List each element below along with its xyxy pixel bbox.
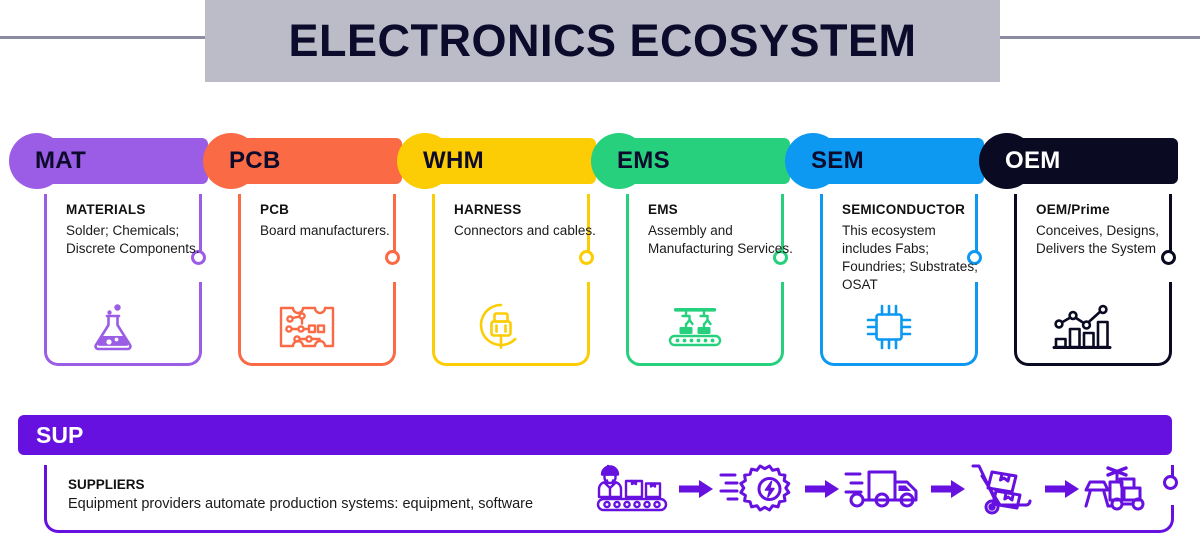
column-oem[interactable]: OEM OEM/Prime Conceives, Designs, Delive… [988,138,1178,373]
hand-truck-icon [970,462,1040,516]
flask-icon [81,299,145,355]
card-description-pcb: Board manufacturers. [260,222,406,240]
card-heading-sem: SEMICONDUCTOR [842,202,988,217]
arrow-right-icon [805,478,839,500]
card-body-sem: SEMICONDUCTOR This ecosystem includes Fa… [842,202,988,294]
page-title: ELECTRONICS ECOSYSTEM [288,15,916,67]
badge-label-sup: SUP [36,422,83,449]
card-body-whm: HARNESS Connectors and cables. [454,202,600,240]
circuit-board-icon [275,299,339,355]
card-description-ems: Assembly and Manufacturing Services. [648,222,794,258]
badge-sup[interactable]: SUP [18,415,1172,455]
badge-sem[interactable]: SEM [794,138,984,184]
badge-label-oem: OEM [1005,147,1061,175]
arrow-right-icon [679,478,713,500]
badge-ems[interactable]: EMS [600,138,790,184]
connector-knob-whm [579,250,594,265]
forklift-icon [1084,462,1150,516]
delivery-truck-icon [844,462,926,516]
card-body-oem: OEM/Prime Conceives, Designs, Delivers t… [1036,202,1182,258]
ecosystem-columns: MAT MATERIALS Solder; Chemicals; Discret… [18,138,1182,373]
badge-whm[interactable]: WHM [406,138,596,184]
card-heading-mat: MATERIALS [66,202,212,217]
badge-pcb[interactable]: PCB [212,138,402,184]
supplier-description: Equipment providers automate production … [68,496,608,512]
arrow-right-icon [931,478,965,500]
card-heading-oem: OEM/Prime [1036,202,1182,217]
bar-chart-trend-icon [1051,299,1115,355]
card-heading-pcb: PCB [260,202,406,217]
card-heading-whm: HARNESS [454,202,600,217]
card-description-oem: Conceives, Designs, Delivers the System [1036,222,1182,258]
card-description-whm: Connectors and cables. [454,222,600,240]
card-heading-ems: EMS [648,202,794,217]
badge-mat[interactable]: MAT [18,138,208,184]
badge-label-ems: EMS [617,147,670,175]
assembly-robot-icon [663,299,727,355]
column-mat[interactable]: MAT MATERIALS Solder; Chemicals; Discret… [18,138,208,373]
badge-label-sem: SEM [811,147,864,175]
column-pcb[interactable]: PCB PCB Board manufacturers. [212,138,402,373]
arrow-right-icon [1045,478,1079,500]
badge-label-mat: MAT [35,147,86,175]
gear-power-icon [718,462,800,516]
card-body-mat: MATERIALS Solder; Chemicals; Discrete Co… [66,202,212,258]
badge-oem[interactable]: OEM [988,138,1178,184]
card-body-pcb: PCB Board manufacturers. [260,202,406,240]
card-description-sem: This ecosystem includes Fabs; Foundries;… [842,222,988,294]
cpu-chip-icon [857,299,921,355]
title-banner: ELECTRONICS ECOSYSTEM [205,0,1000,82]
infographic-canvas: ELECTRONICS ECOSYSTEM MAT MATERIALS Sold… [0,0,1200,556]
usb-connector-icon [469,299,533,355]
supplier-heading: SUPPLIERS [68,477,608,492]
card-body-ems: EMS Assembly and Manufacturing Services. [648,202,794,258]
supply-chain-flow [596,462,1150,516]
badge-label-whm: WHM [423,147,484,175]
badge-label-pcb: PCB [229,147,281,175]
connector-knob-sup [1163,475,1178,490]
column-sem[interactable]: SEM SEMICONDUCTOR This ecosystem include… [794,138,984,373]
card-description-mat: Solder; Chemicals; Discrete Components. [66,222,212,258]
connector-knob-pcb [385,250,400,265]
supplier-text-block: SUPPLIERS Equipment providers automate p… [68,477,608,512]
worker-conveyor-icon [596,462,674,516]
column-whm[interactable]: WHM HARNESS Connectors and cables. [406,138,596,373]
column-ems[interactable]: EMS EMS Assembly and Manufacturing Servi… [600,138,790,373]
